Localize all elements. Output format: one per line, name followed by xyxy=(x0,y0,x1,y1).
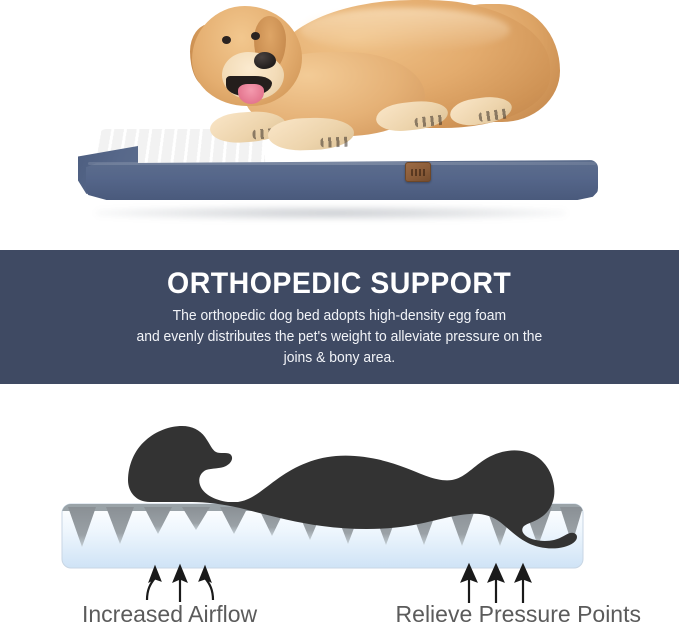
banner-subtitle-line-3: joins & bony area. xyxy=(137,348,543,369)
label-increased-airflow: Increased Airflow xyxy=(82,601,257,627)
airflow-arrow-straight xyxy=(173,565,187,602)
golden-retriever-photo xyxy=(150,0,550,169)
banner-subtitle-line-2: and evenly distributes the pet's weight … xyxy=(137,327,543,348)
dog-nose xyxy=(254,52,276,69)
egg-foam-diagram-section xyxy=(0,384,679,633)
pressure-airflow-diagram xyxy=(0,384,679,614)
dog-paw-front-right xyxy=(267,117,354,152)
airflow-arrow-curved-left xyxy=(147,566,161,600)
paw-toe-lines xyxy=(320,137,350,148)
banner-title: ORTHOPEDIC SUPPORT xyxy=(167,269,511,299)
airflow-arrow-group xyxy=(147,565,213,602)
diagram-labels: Increased Airflow Relieve Pressure Point… xyxy=(0,601,679,627)
dog-eye-left xyxy=(222,36,231,44)
airflow-arrow-curved-right xyxy=(199,566,213,600)
pressure-arrow xyxy=(515,564,531,603)
pressure-arrow xyxy=(488,564,504,603)
product-photo-section xyxy=(0,0,679,250)
photo-stage xyxy=(0,0,679,250)
dog-fur-highlight xyxy=(300,8,510,52)
orthopedic-support-banner: ORTHOPEDIC SUPPORT The orthopedic dog be… xyxy=(0,250,679,384)
dog-eye-right xyxy=(251,32,260,40)
pressure-arrow-group xyxy=(461,564,531,603)
banner-subtitle: The orthopedic dog bed adopts high-densi… xyxy=(137,306,543,369)
label-relieve-pressure-points: Relieve Pressure Points xyxy=(396,601,641,627)
pressure-arrow xyxy=(461,564,477,603)
banner-subtitle-line-1: The orthopedic dog bed adopts high-densi… xyxy=(137,306,543,327)
